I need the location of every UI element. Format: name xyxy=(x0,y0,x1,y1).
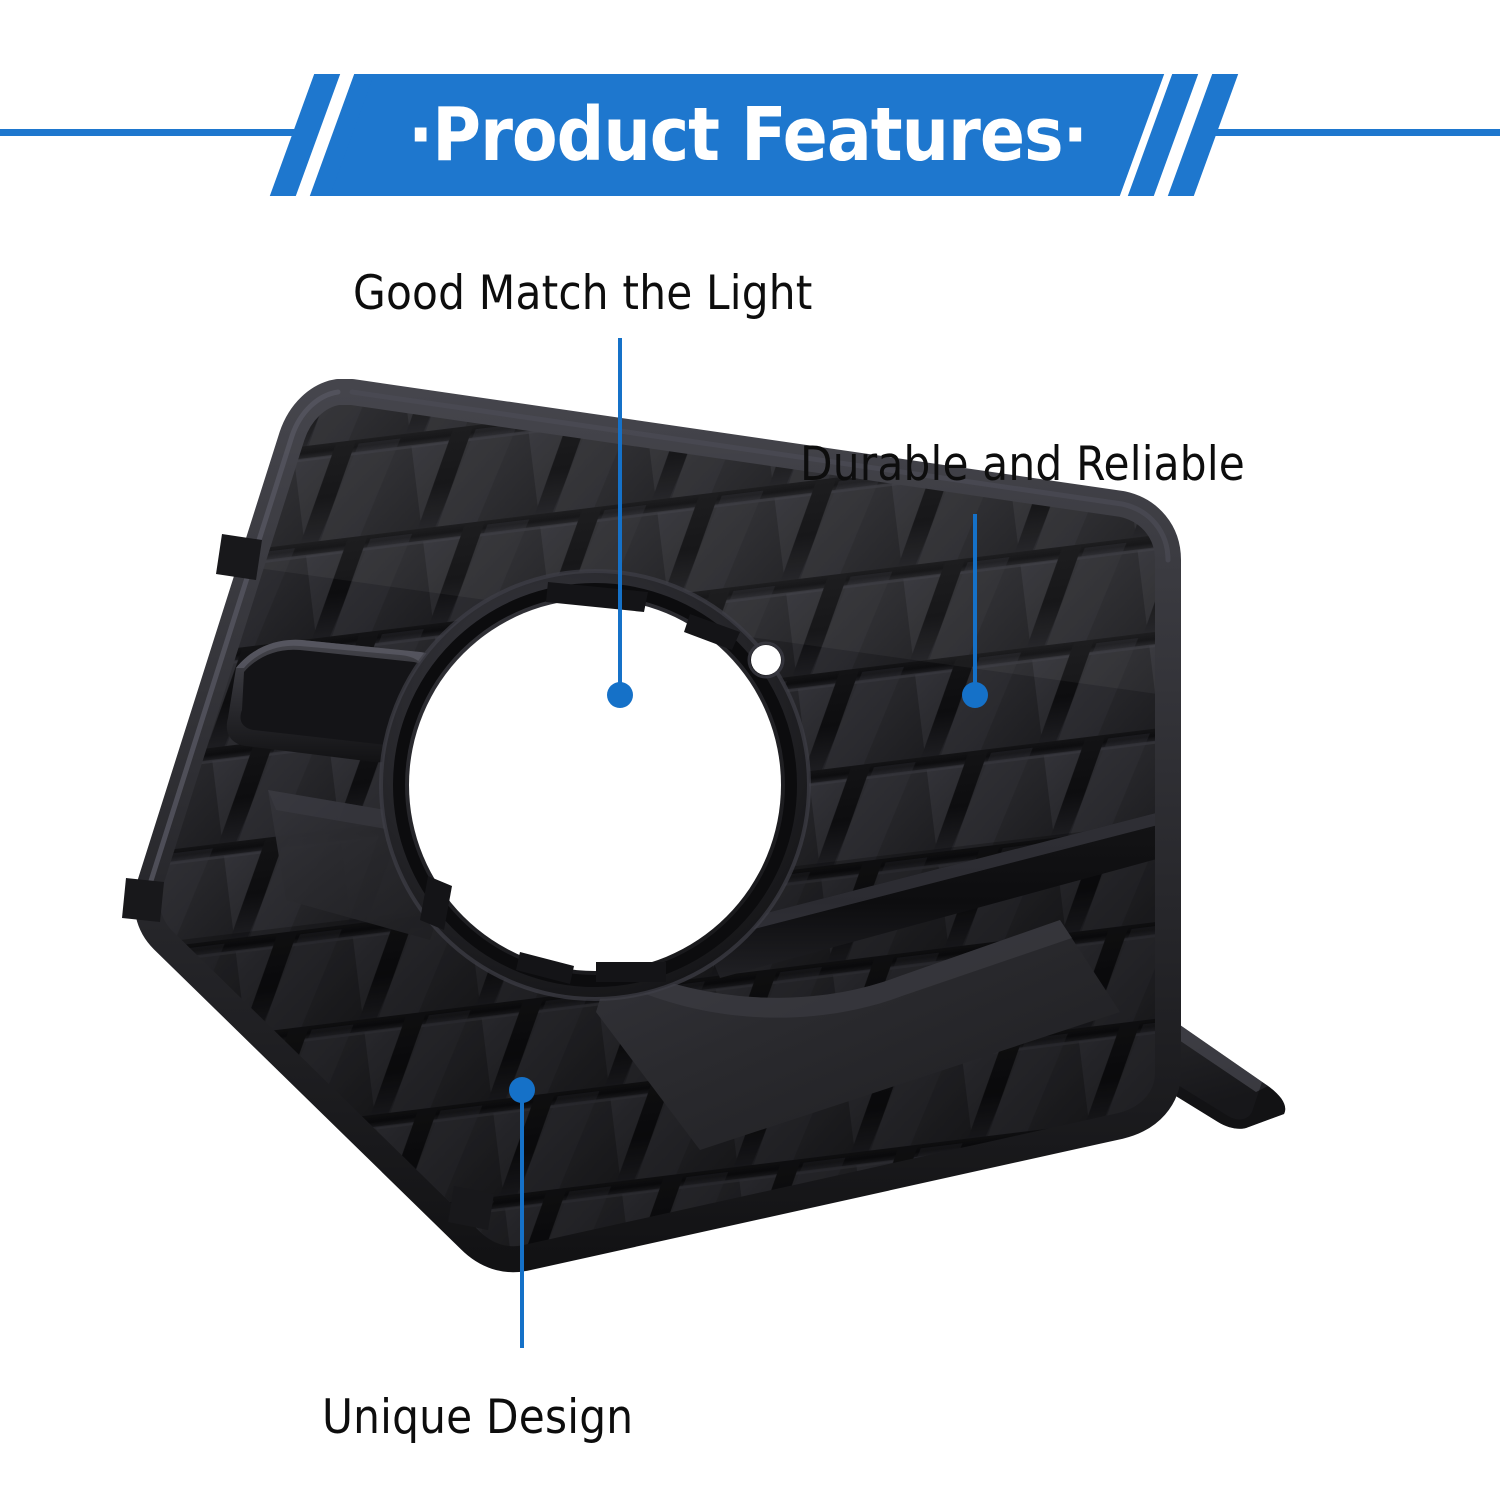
leader-line-unique-design xyxy=(520,1090,524,1348)
callout-dot-good-match[interactable] xyxy=(607,682,633,708)
callout-dot-durable[interactable] xyxy=(962,682,988,708)
product-image xyxy=(0,0,1500,1500)
callout-dot-unique-design[interactable] xyxy=(509,1077,535,1103)
leader-line-good-match xyxy=(618,338,622,696)
callout-label-unique-design: Unique Design xyxy=(322,1390,633,1445)
mounting-tab-middle xyxy=(122,878,164,922)
locator-hole xyxy=(751,645,781,675)
callout-label-good-match-the-light: Good Match the Light xyxy=(353,266,813,321)
fog-lamp-opening xyxy=(409,599,781,971)
ring-clip-bottom xyxy=(596,962,666,982)
callout-label-durable-and-reliable: Durable and Reliable xyxy=(800,437,1245,492)
fog-lamp-cutout xyxy=(381,571,809,999)
mounting-tab-upper xyxy=(216,534,262,580)
leader-line-durable xyxy=(973,514,977,696)
infographic-canvas: ·Product Features· xyxy=(0,0,1500,1500)
